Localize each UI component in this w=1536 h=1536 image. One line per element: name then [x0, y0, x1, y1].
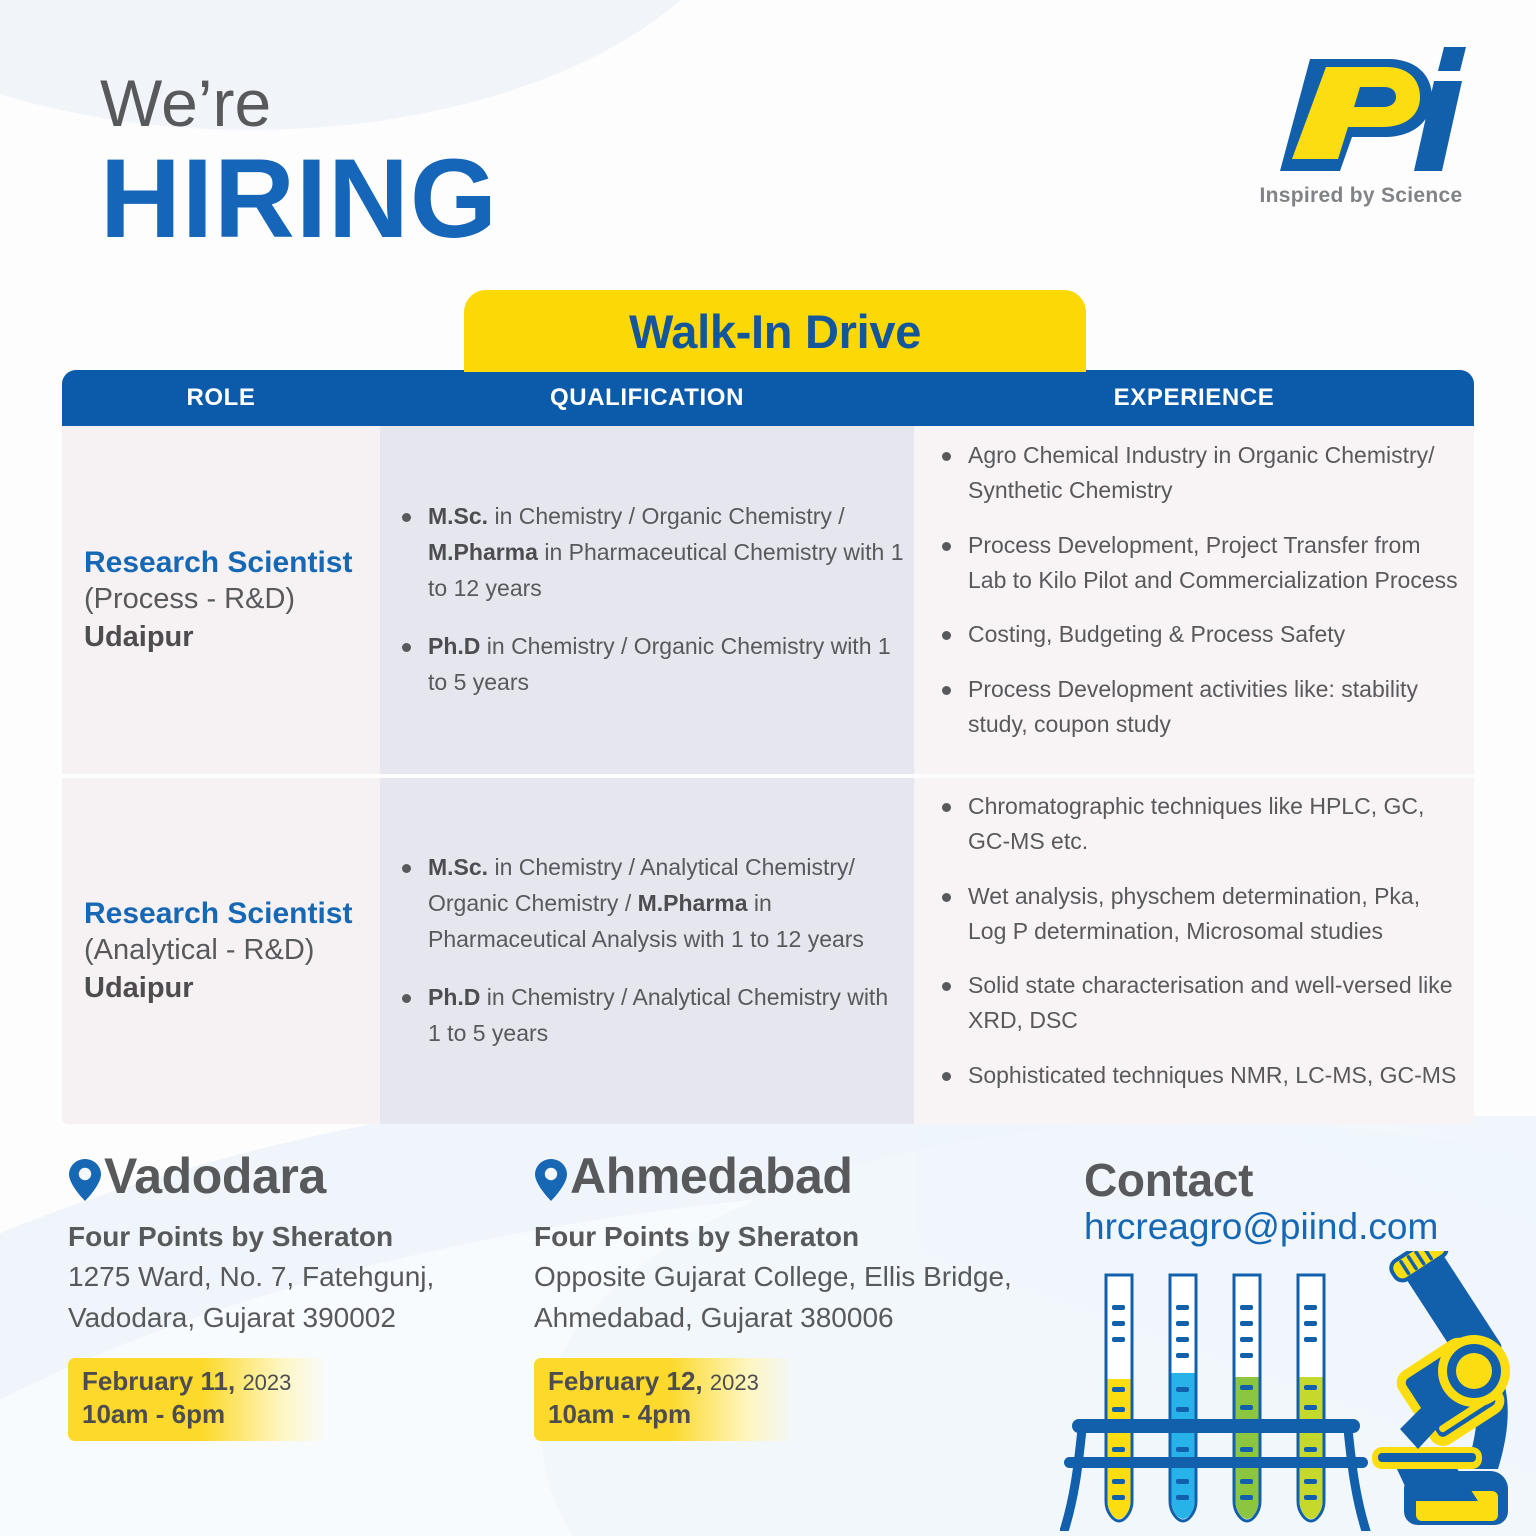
column-header-qualification: QUALIFICATION: [380, 384, 914, 412]
location-pin-icon: [534, 1158, 568, 1207]
column-header-role: ROLE: [62, 384, 380, 412]
date-value: February 12,: [548, 1366, 703, 1396]
qualification-cell: M.Sc. in Chemistry / Organic Chemistry /…: [380, 426, 914, 774]
date-badge: February 12, 2023 10am - 4pm: [534, 1358, 795, 1441]
pi-logo-icon: [1256, 45, 1466, 173]
table-row: Research Scientist (Process - R&D) Udaip…: [62, 426, 1474, 774]
contact-block: Contact hrcreagro@piind.com: [1084, 1156, 1438, 1249]
time-value: 10am - 4pm: [548, 1398, 759, 1431]
list-item: Solid state characterisation and well-ve…: [934, 968, 1460, 1038]
venue-address-line2: Ahmedabad, Gujarat 380006: [534, 1299, 1054, 1336]
list-item: Ph.D in Chemistry / Analytical Chemistry…: [394, 980, 904, 1052]
qualification-list: M.Sc. in Chemistry / Analytical Chemistr…: [394, 850, 904, 1051]
lab-equipment-graphic: [1060, 1251, 1536, 1531]
hiring-poster: We’re HIRING Inspired by Science Walk-In…: [0, 0, 1536, 1536]
date-line: February 11, 2023: [82, 1365, 291, 1398]
lab-illustration: [1060, 1251, 1536, 1536]
list-item: Process Development activities like: sta…: [934, 672, 1460, 742]
time-value: 10am - 6pm: [82, 1398, 291, 1431]
qual-bold-1: M.Sc.: [428, 854, 488, 880]
venue-address-line1: 1275 Ward, No. 7, Fatehgunj,: [68, 1258, 538, 1295]
role-cell: Research Scientist (Analytical - R&D) Ud…: [62, 778, 380, 1124]
walk-in-drive-label: Walk-In Drive: [629, 304, 921, 359]
test-tube-4: [1298, 1275, 1324, 1521]
test-tube-3: [1234, 1275, 1260, 1521]
jobs-table: ROLE QUALIFICATION EXPERIENCE Research S…: [62, 370, 1474, 1124]
list-item: Agro Chemical Industry in Organic Chemis…: [934, 438, 1460, 508]
venue-block-ahmedabad: Ahmedabad Four Points by Sheraton Opposi…: [534, 1150, 1054, 1441]
venue-heading: Ahmedabad: [534, 1150, 1054, 1207]
qual-text-1: in Chemistry / Analytical Chemistry with…: [428, 984, 888, 1046]
list-item: Process Development, Project Transfer fr…: [934, 528, 1460, 598]
walk-in-drive-banner: Walk-In Drive: [464, 290, 1086, 372]
date-badge: February 11, 2023 10am - 6pm: [68, 1358, 327, 1441]
venue-hotel: Four Points by Sheraton: [68, 1220, 538, 1254]
logo-tagline: Inspired by Science: [1256, 184, 1466, 208]
date-line: February 12, 2023: [548, 1365, 759, 1398]
test-tube-2: [1170, 1275, 1196, 1521]
role-subtitle: (Analytical - R&D): [84, 932, 380, 970]
column-header-experience: EXPERIENCE: [914, 384, 1474, 412]
title-line-hiring: HIRING: [100, 140, 498, 258]
date-value: February 11,: [82, 1366, 235, 1396]
experience-cell: Chromatographic techniques like HPLC, GC…: [914, 778, 1474, 1124]
test-tube-1: [1106, 1275, 1132, 1521]
contact-email[interactable]: hrcreagro@piind.com: [1084, 1206, 1438, 1249]
experience-cell: Agro Chemical Industry in Organic Chemis…: [914, 426, 1474, 774]
list-item: Chromatographic techniques like HPLC, GC…: [934, 789, 1460, 859]
table-header-row: ROLE QUALIFICATION EXPERIENCE: [62, 370, 1474, 426]
title-line-were: We’re: [100, 70, 498, 136]
venue-block-vadodara: Vadodara Four Points by Sheraton 1275 Wa…: [68, 1150, 538, 1441]
role-location: Udaipur: [84, 619, 380, 657]
experience-list: Chromatographic techniques like HPLC, GC…: [934, 789, 1460, 1114]
qualification-list: M.Sc. in Chemistry / Organic Chemistry /…: [394, 499, 904, 700]
page-title: We’re HIRING: [100, 70, 498, 258]
date-year: 2023: [242, 1370, 291, 1395]
list-item: Wet analysis, physchem determination, Pk…: [934, 879, 1460, 949]
location-pin-icon: [68, 1158, 102, 1207]
role-title: Research Scientist: [84, 895, 380, 933]
qual-text-1: in Chemistry / Organic Chemistry /: [488, 503, 845, 529]
list-item: M.Sc. in Chemistry / Organic Chemistry /…: [394, 499, 904, 607]
role-location: Udaipur: [84, 970, 380, 1008]
venue-address-line1: Opposite Gujarat College, Ellis Bridge,: [534, 1258, 1054, 1295]
list-item: Sophisticated techniques NMR, LC-MS, GC-…: [934, 1058, 1460, 1093]
qual-bold-1: M.Sc.: [428, 503, 488, 529]
venue-city: Ahmedabad: [570, 1150, 853, 1203]
date-year: 2023: [710, 1370, 759, 1395]
qual-bold-1: Ph.D: [428, 633, 480, 659]
qualification-cell: M.Sc. in Chemistry / Analytical Chemistr…: [380, 778, 914, 1124]
experience-list: Agro Chemical Industry in Organic Chemis…: [934, 438, 1460, 763]
qual-text-1: in Chemistry / Organic Chemistry with 1 …: [428, 633, 891, 695]
venue-address-line2: Vadodara, Gujarat 390002: [68, 1299, 538, 1336]
list-item: Ph.D in Chemistry / Organic Chemistry wi…: [394, 629, 904, 701]
qual-bold-2: M.Pharma: [638, 890, 748, 916]
role-cell: Research Scientist (Process - R&D) Udaip…: [62, 426, 380, 774]
table-row: Research Scientist (Analytical - R&D) Ud…: [62, 778, 1474, 1124]
venue-city: Vadodara: [104, 1150, 326, 1203]
list-item: Costing, Budgeting & Process Safety: [934, 617, 1460, 652]
microscope-icon: [1372, 1251, 1511, 1525]
test-tube-rack-icon: [1064, 1275, 1368, 1531]
role-title: Research Scientist: [84, 544, 380, 582]
role-subtitle: (Process - R&D): [84, 581, 380, 619]
list-item: M.Sc. in Chemistry / Analytical Chemistr…: [394, 850, 904, 958]
venue-hotel: Four Points by Sheraton: [534, 1220, 1054, 1254]
qual-bold-1: Ph.D: [428, 984, 480, 1010]
venue-heading: Vadodara: [68, 1150, 538, 1207]
contact-title: Contact: [1084, 1156, 1438, 1204]
company-logo: Inspired by Science: [1256, 45, 1466, 208]
qual-bold-2: M.Pharma: [428, 539, 538, 565]
